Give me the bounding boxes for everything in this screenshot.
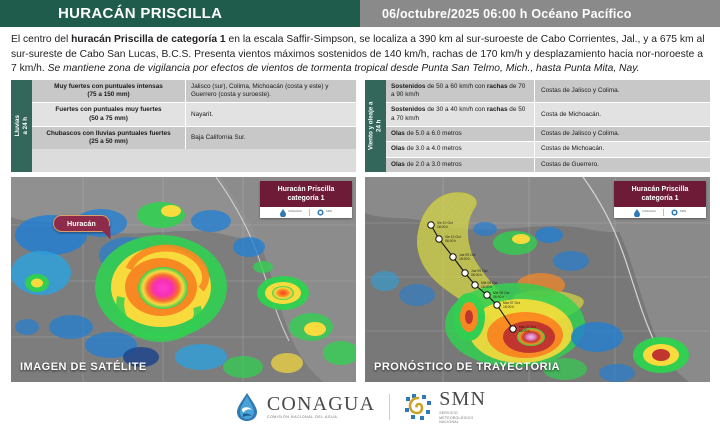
conagua-mini-text: CONAGUA	[642, 211, 656, 214]
svg-text:18:00 h: 18:00 h	[481, 285, 492, 289]
footer-divider	[389, 394, 390, 420]
wave-condition-cell: Olas de 2.0 a 3.0 metros	[386, 158, 534, 172]
rain-table-grid: Muy fuertes con puntuales intensas (75 a…	[32, 80, 356, 172]
badge-line-2: categoría 1	[263, 194, 349, 203]
wind-mid-1: de 50 a 60 km/h con	[425, 83, 486, 90]
rain-table: Lluvias a 24 h Muy fuertes con puntuales…	[11, 80, 356, 172]
wind-bold-1: Sostenidos	[391, 83, 425, 90]
map-panels-row: Huracán Huracán Priscilla categoría 1 CO…	[0, 172, 720, 382]
conagua-mini-logo-icon: CONAGUA	[634, 209, 656, 217]
rain-category-text: Fuertes con puntuales muy fuertes	[36, 106, 181, 114]
wind-table-grid: Sostenidos de 50 a 60 km/h con rachas de…	[386, 80, 710, 172]
conagua-wordmark: CONAGUA COMISIÓN NACIONAL DEL AGUA	[267, 394, 375, 420]
smn-mini-text: SMN	[680, 211, 686, 214]
badge-line-2: categoría 1	[617, 194, 703, 203]
summary-part-1: El centro del	[11, 34, 71, 45]
smn-mini-logo-icon: SMN	[671, 209, 686, 216]
rain-areas-cell: Baja California Sur.	[185, 127, 356, 149]
wind-label-line1: Viento y oleaje a	[368, 102, 376, 150]
badge-divider	[663, 209, 664, 216]
rain-range-text: (25 a 50 mm)	[36, 138, 181, 146]
smn-mini-logo-icon: SMN	[317, 209, 332, 216]
smn-mini-text: SMN	[326, 211, 332, 214]
smn-name: SMN	[439, 389, 486, 409]
satellite-image-panel[interactable]: Huracán Huracán Priscilla categoría 1 CO…	[11, 177, 356, 382]
rain-category-cell: Fuertes con puntuales muy fuertes (50 a …	[32, 103, 185, 125]
smn-wordmark: SMN SERVICIO METEOROLÓGICO NACIONAL	[439, 389, 486, 425]
table-row: Muy fuertes con puntuales intensas (75 a…	[32, 80, 356, 104]
table-row: Sostenidos de 50 a 60 km/h con rachas de…	[386, 80, 710, 104]
badge-logo-strip: CONAGUA SMN	[260, 207, 352, 218]
smn-logo: SMN SERVICIO METEOROLÓGICO NACIONAL	[404, 389, 486, 425]
wave-mid-1: de 5.0 a 6.0 metros	[405, 130, 462, 137]
wind-bold-1: Sostenidos	[391, 106, 425, 113]
rain-category-cell: Muy fuertes con puntuales intensas (75 a…	[32, 80, 185, 103]
rain-label-line1: Lluvias	[14, 115, 22, 136]
table-row: Chubascos con lluvias puntuales fuertes …	[32, 127, 356, 149]
badge-logo-strip: CONAGUA SMN	[614, 207, 706, 218]
page-title: HURACÁN PRISCILLA	[58, 5, 222, 22]
bulletin-header: HURACÁN PRISCILLA 06/octubre/2025 06:00 …	[0, 0, 720, 27]
svg-text:18:00 h: 18:00 h	[459, 257, 470, 261]
rain-category-cell: Chubascos con lluvias puntuales fuertes …	[32, 127, 185, 149]
wave-condition-cell: Olas de 5.0 a 6.0 metros	[386, 127, 534, 141]
smn-subtitle: SERVICIO METEOROLÓGICO NACIONAL	[439, 411, 486, 425]
rain-category-text: Chubascos con lluvias puntuales fuertes	[36, 130, 181, 138]
water-drop-icon	[280, 209, 286, 217]
svg-text:18:00 h: 18:00 h	[437, 225, 448, 229]
table-row: Sostenidos de 30 a 40 km/h con rachas de…	[386, 103, 710, 127]
conagua-subtitle: COMISIÓN NACIONAL DEL AGUA	[267, 416, 375, 420]
wave-condition-cell: Olas de 3.0 a 4.0 metros	[386, 142, 534, 156]
smn-sub-line-1: SERVICIO	[439, 411, 458, 415]
rain-label-line2: a 24 h	[22, 115, 30, 136]
rain-areas-cell: Nayarit.	[185, 103, 356, 125]
conagua-mini-text: CONAGUA	[288, 211, 302, 214]
wave-areas-cell: Costas de Guerrero.	[534, 158, 710, 172]
smn-sub-line-2: METEOROLÓGICO	[439, 416, 473, 420]
table-row: Fuertes con puntuales muy fuertes (50 a …	[32, 103, 356, 126]
smn-sub-line-3: NACIONAL	[439, 420, 459, 424]
wave-mid-1: de 2.0 a 3.0 metros	[405, 161, 462, 168]
wind-table-vertical-label: Viento y oleaje a 24 h	[365, 80, 386, 172]
table-row: Olas de 2.0 a 3.0 metros Costas de Guerr…	[386, 158, 710, 172]
data-tables-row: Lluvias a 24 h Muy fuertes con puntuales…	[0, 79, 720, 172]
bulletin-footer: CONAGUA COMISIÓN NACIONAL DEL AGUA SMN S…	[0, 385, 720, 429]
wind-condition-cell: Sostenidos de 30 a 40 km/h con rachas de…	[386, 103, 534, 126]
wave-bold-1: Olas	[391, 161, 405, 168]
summary-emphasis: huracán Priscilla de categoría 1	[71, 34, 226, 45]
weather-bulletin-page: HURACÁN PRISCILLA 06/octubre/2025 06:00 …	[0, 0, 720, 429]
rain-areas-cell: Jalisco (sur), Colima, Michoacán (costa …	[185, 80, 356, 103]
wave-areas-cell: Costas de Jalisco y Colima.	[534, 127, 710, 141]
badge-line-1: Huracán Priscilla	[617, 185, 703, 194]
wind-bold-2: rachas	[487, 106, 508, 113]
summary-watch-note: Se mantiene zona de vigilancia por efect…	[48, 63, 640, 74]
wave-mid-1: de 3.0 a 4.0 metros	[405, 145, 462, 152]
table-row: Olas de 3.0 a 4.0 metros Costas de Micho…	[386, 142, 710, 157]
conagua-name: CONAGUA	[267, 394, 375, 414]
header-datetime-basin: 06/octubre/2025 06:00 h Océano Pacífico	[382, 7, 632, 21]
wind-bold-2: rachas	[487, 83, 508, 90]
badge-text: Huracán Priscilla categoría 1	[260, 181, 352, 207]
rain-category-text: Muy fuertes con puntuales intensas	[36, 83, 181, 91]
svg-text:18:00 h: 18:00 h	[503, 305, 514, 309]
conagua-mini-logo-icon: CONAGUA	[280, 209, 302, 217]
svg-text:06:00 h: 06:00 h	[519, 329, 530, 333]
wind-areas-cell: Costas de Jalisco y Colima.	[534, 80, 710, 103]
wind-mid-1: de 30 a 40 km/h con	[425, 106, 486, 113]
forecast-panel-caption: PRONÓSTICO DE TRAYECTORIA	[374, 361, 560, 373]
forecast-track-panel[interactable]: Mar 07 Oct 06:00 h Mar 07 Oct 18:00 h Mi…	[365, 177, 710, 382]
svg-text:06:00 h: 06:00 h	[471, 273, 482, 277]
table-row: Olas de 5.0 a 6.0 metros Costas de Jalis…	[386, 127, 710, 142]
wave-areas-cell: Costas de Michoacán.	[534, 142, 710, 156]
badge-divider	[309, 209, 310, 216]
status-badge: Huracán Priscilla categoría 1 CONAGUA SM…	[260, 181, 352, 218]
rain-range-text: (75 a 150 mm)	[36, 91, 181, 99]
summary-paragraph: El centro del huracán Priscilla de categ…	[0, 27, 720, 79]
header-title-band: HURACÁN PRISCILLA	[0, 0, 360, 27]
rain-table-vertical-label: Lluvias a 24 h	[11, 80, 32, 172]
conagua-eagle-water-icon	[234, 392, 260, 422]
satellite-panel-caption: IMAGEN DE SATÉLITE	[20, 361, 147, 373]
water-drop-icon	[634, 209, 640, 217]
conagua-logo: CONAGUA COMISIÓN NACIONAL DEL AGUA	[234, 392, 375, 422]
svg-text:06:00 h: 06:00 h	[493, 295, 504, 299]
header-meta-band: 06/octubre/2025 06:00 h Océano Pacífico	[360, 0, 720, 27]
badge-text: Huracán Priscilla categoría 1	[614, 181, 706, 207]
svg-text:06:00 h: 06:00 h	[445, 239, 456, 243]
spiral-icon	[317, 209, 324, 216]
spiral-icon	[671, 209, 678, 216]
wind-condition-cell: Sostenidos de 50 a 60 km/h con rachas de…	[386, 80, 534, 103]
wave-bold-1: Olas	[391, 145, 405, 152]
wind-label-line2: 24 h	[376, 102, 384, 150]
wind-wave-table: Viento y oleaje a 24 h Sostenidos de 50 …	[365, 80, 710, 172]
badge-line-1: Huracán Priscilla	[263, 185, 349, 194]
wave-bold-1: Olas	[391, 130, 405, 137]
rain-range-text: (50 a 75 mm)	[36, 115, 181, 123]
wind-areas-cell: Costa de Michoacán.	[534, 103, 710, 126]
smn-spiral-icon	[404, 393, 432, 421]
status-badge: Huracán Priscilla categoría 1 CONAGUA SM…	[614, 181, 706, 218]
